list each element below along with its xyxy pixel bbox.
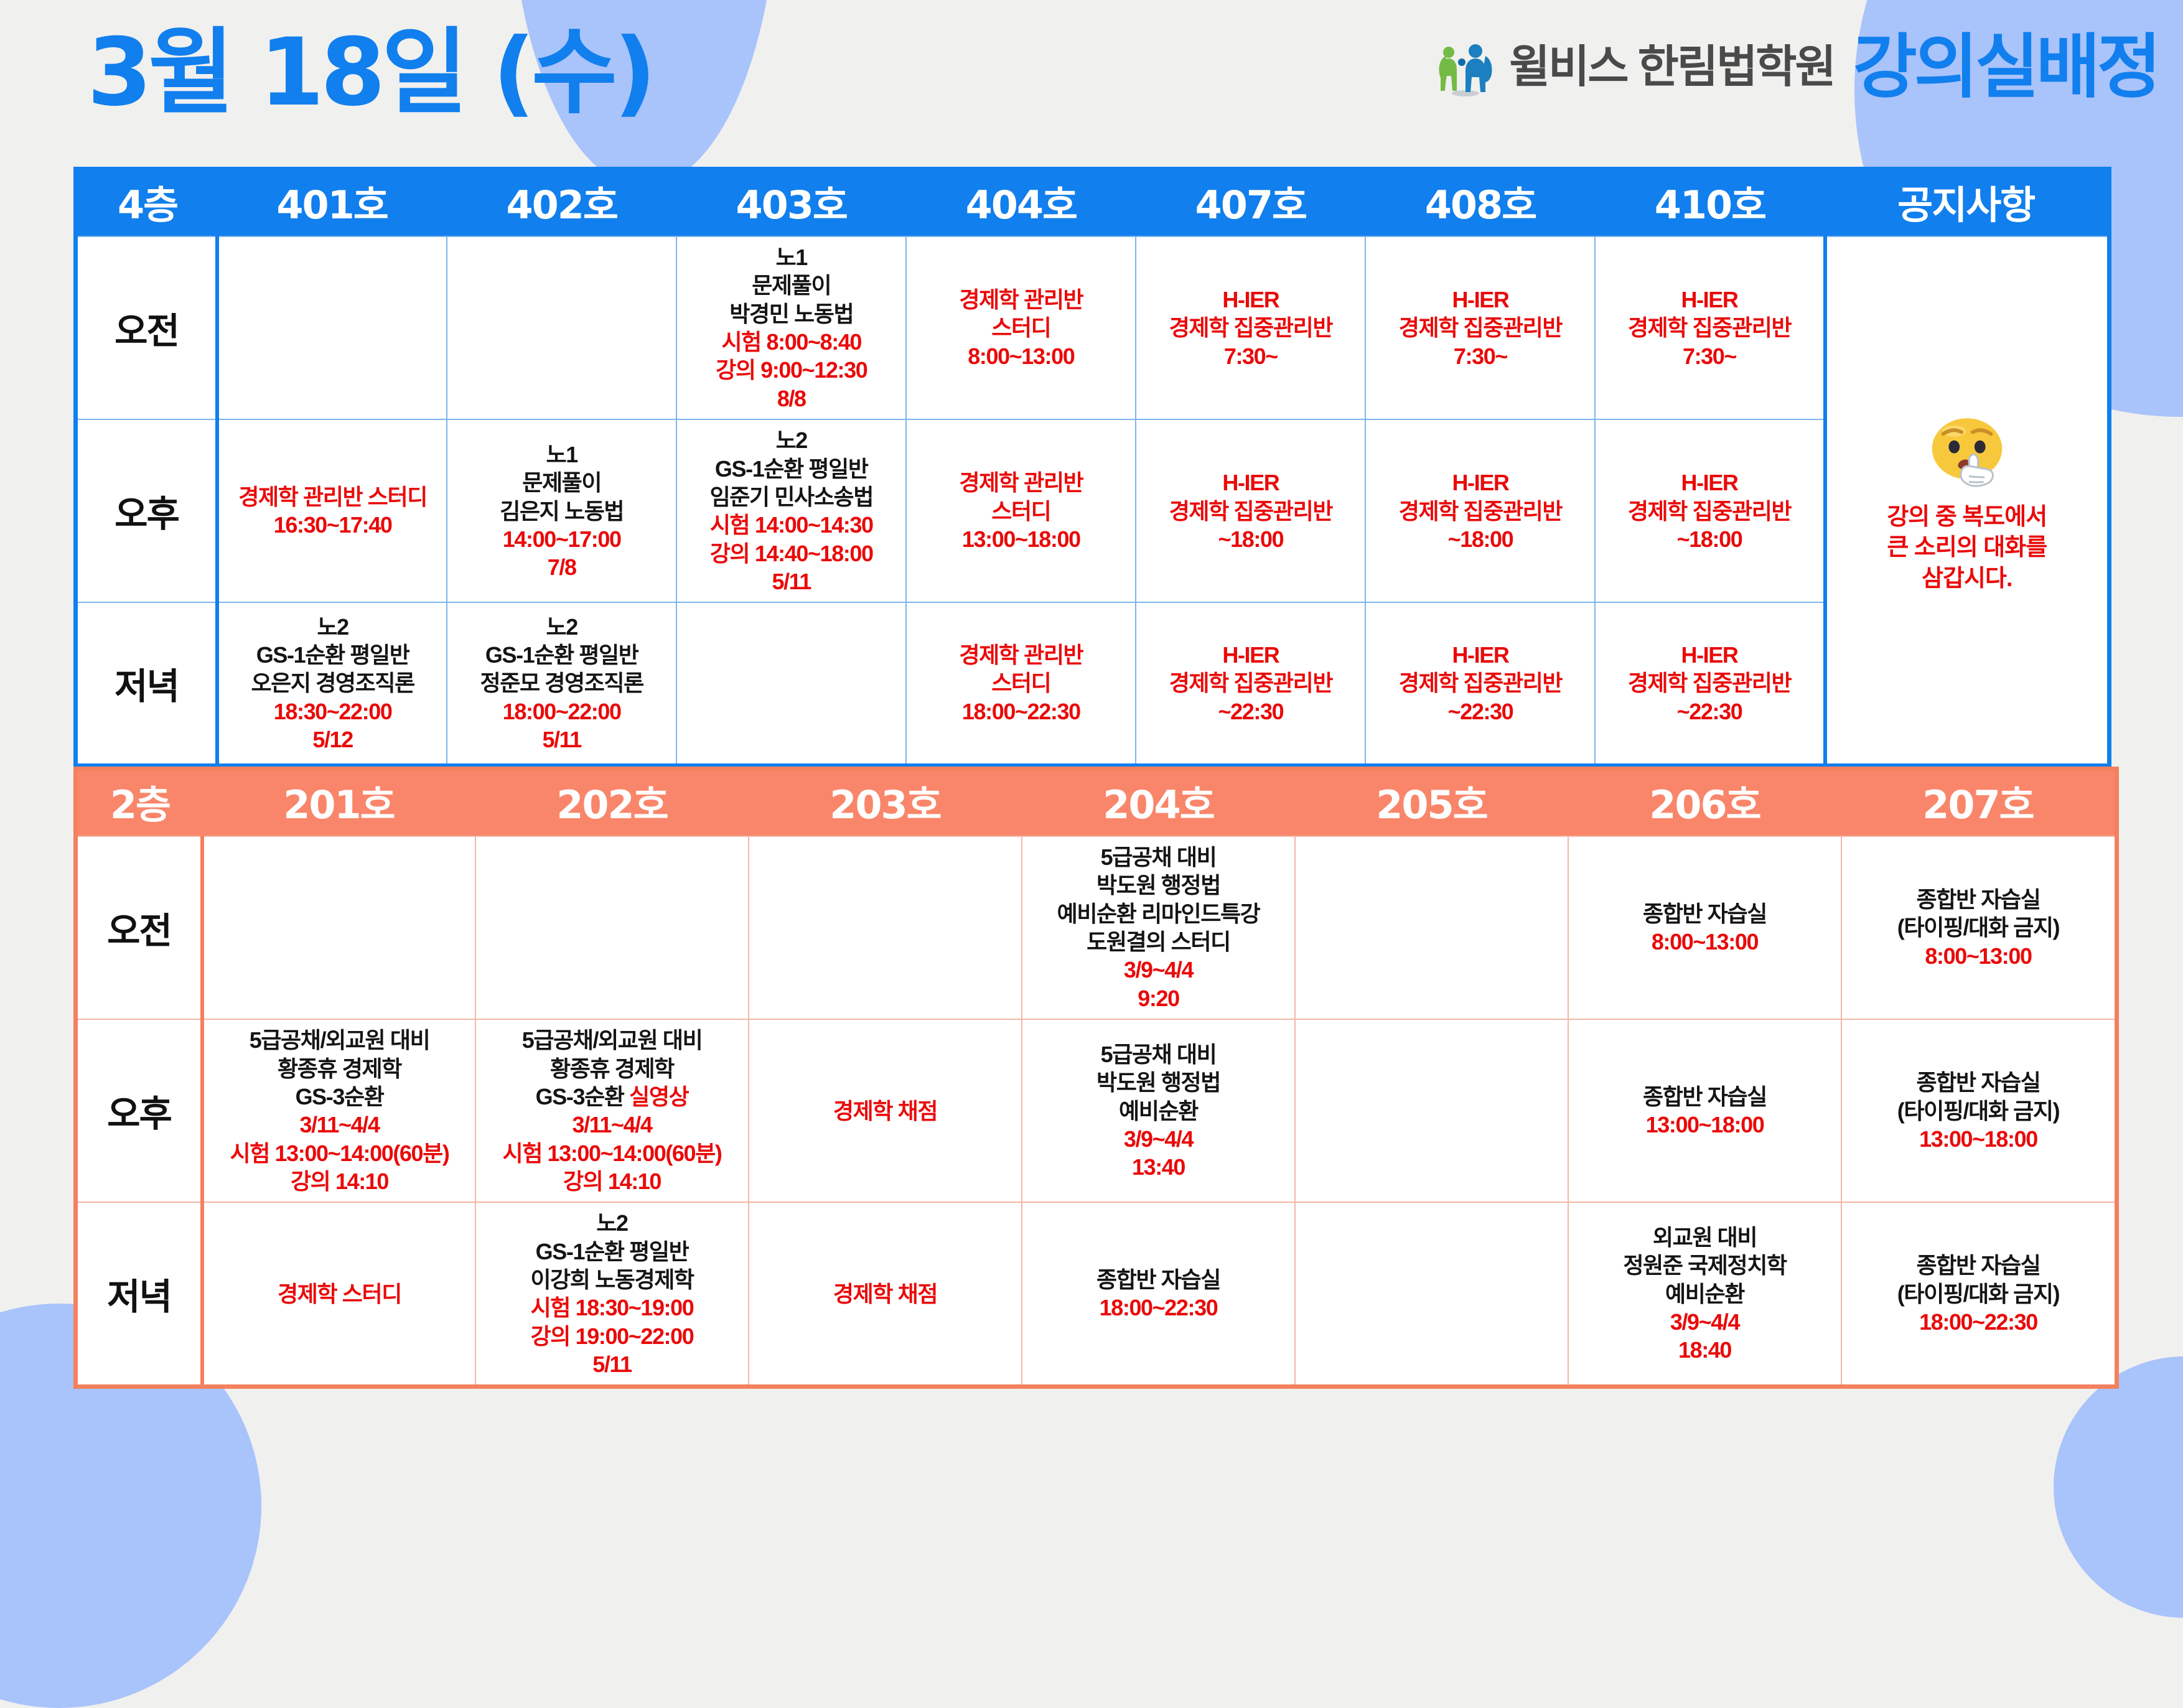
cell-line: ~22:30 [1448, 698, 1513, 726]
schedule-cell: 경제학 채점 [749, 1019, 1022, 1202]
schedule-table-floor4: 4층 401호 402호 403호 404호 407호 408호 410호 공지… [73, 167, 2111, 768]
notice-line: 큰 소리의 대화를 [1887, 533, 2047, 563]
header-notice: 공지사항 [1825, 169, 2110, 237]
header-room-205: 205호 [1295, 769, 1568, 837]
cell-content: H-IER경제학 집중관리반7:30~ [1370, 286, 1591, 370]
cell-line: 5급공채/외교원 대비 [250, 1026, 430, 1054]
schedule-cell [1295, 1202, 1568, 1387]
schedule-cell: 경제학 관리반스터디18:00~22:30 [906, 602, 1136, 765]
cell-line: 경제학 채점 [833, 1280, 937, 1308]
schedule-cell [217, 236, 447, 419]
cell-line: 시험 8:00~8:40 [721, 328, 861, 356]
cell-content: 종합반 자습실(타이핑/대화 금지)8:00~13:00 [1846, 885, 2111, 970]
brand-block: 윌비스 한림법학원 강의실배정 [1432, 32, 2158, 102]
cell-line: 8:00~13:00 [968, 342, 1074, 370]
cell-line: 7/8 [548, 553, 576, 581]
schedule-cell: 5급공채/외교원 대비황종휴 경제학GS-3순환3/11~4/4시험 13:00… [202, 1019, 475, 1202]
cell-line: GS-3순환 [296, 1083, 384, 1111]
schedule-cell: 경제학 관리반 스터디16:30~17:40 [217, 419, 447, 602]
cell-content: H-IER경제학 집중관리반~18:00 [1140, 469, 1361, 553]
header-room-204: 204호 [1022, 769, 1295, 837]
cell-line: 5/11 [772, 567, 811, 595]
schedule-cell [447, 236, 676, 419]
cell-line: 5급공채/외교원 대비 [522, 1026, 703, 1054]
header-page-label: 강의실배정 [1853, 32, 2158, 102]
cell-line: 7:30~ [1224, 342, 1278, 370]
schedule-cell: 외교원 대비정원준 국제정치학예비순환3/9~4/418:40 [1568, 1202, 1841, 1387]
header-room-207: 207호 [1841, 769, 2117, 837]
cell-content: H-IER경제학 집중관리반~22:30 [1370, 641, 1591, 726]
cell-line: H-IER [1222, 286, 1279, 314]
cell-line: (타이핑/대화 금지) [1897, 1097, 2059, 1125]
cell-line: 5/11 [592, 1350, 631, 1378]
cell-line: 황종휴 경제학 [550, 1055, 674, 1083]
cell-content: 종합반 자습실18:00~22:30 [1026, 1266, 1291, 1322]
cell-content: 경제학 관리반스터디13:00~18:00 [910, 469, 1131, 553]
cell-line: 박도원 행정법 [1096, 871, 1220, 899]
cell-line: 13:40 [1132, 1153, 1185, 1181]
table-header-row-floor2: 2층 201호 202호 203호 204호 205호 206호 207호 [76, 769, 2117, 837]
cell-content: H-IER경제학 집중관리반~18:00 [1370, 469, 1591, 553]
cell-line: 노2 [596, 1209, 627, 1237]
cell-line: 예비순환 [1119, 1097, 1198, 1125]
cell-line: 18:40 [1678, 1336, 1731, 1364]
cell-line: 18:00~22:30 [1100, 1294, 1218, 1322]
cell-content: 5급공채 대비박도원 행정법예비순환 리마인드특강도원결의 스터디3/9~4/4… [1026, 843, 1291, 1012]
cell-content: H-IER경제학 집중관리반~22:30 [1599, 641, 1819, 726]
cell-content: H-IER경제학 집중관리반7:30~ [1140, 286, 1361, 370]
cell-line: 7:30~ [1454, 342, 1507, 370]
schedule-cell: 경제학 스터디 [202, 1202, 475, 1387]
schedule-cell: 노1문제풀이박경민 노동법시험 8:00~8:40강의 9:00~12:308/… [676, 236, 906, 419]
cell-line: 3/11~4/4 [300, 1111, 380, 1139]
schedule-cell: 5급공채/외교원 대비황종휴 경제학GS-3순환 실영상3/11~4/4시험 1… [475, 1019, 749, 1202]
cell-content: 종합반 자습실8:00~13:00 [1573, 900, 1837, 956]
cell-line: 경제학 관리반 [959, 469, 1083, 497]
schedule-cell: H-IER경제학 집중관리반~22:30 [1136, 602, 1365, 765]
cell-line: 노2 [546, 613, 577, 641]
cell-line: 정원준 국제정치학 [1623, 1251, 1786, 1279]
schedule-cell: 경제학 관리반스터디13:00~18:00 [906, 419, 1136, 602]
cell-content: 종합반 자습실(타이핑/대화 금지)13:00~18:00 [1846, 1068, 2111, 1153]
header-floor2-label: 2층 [76, 769, 203, 837]
decorative-circle-bottom-right [2054, 1356, 2183, 1618]
schedule-cell [202, 836, 475, 1019]
cell-line: 시험 18:30~19:00 [531, 1294, 694, 1322]
cell-line: 예비순환 리마인드특강 [1057, 900, 1260, 928]
header-room-404: 404호 [906, 169, 1136, 237]
table-row: 저녁노2GS-1순환 평일반오은지 경영조직론18:30~22:005/12노2… [76, 602, 2110, 765]
notice-content: 강의 중 복도에서큰 소리의 대화를삼갑시다. [1831, 406, 2103, 594]
row-label-afternoon: 오후 [76, 1019, 203, 1202]
cell-content: 노1문제풀이김은지 노동법14:00~17:007/8 [451, 441, 672, 582]
cell-line: 시험 13:00~14:00(60분) [230, 1139, 449, 1167]
header-room-410: 410호 [1595, 169, 1825, 237]
cell-line: 5/12 [312, 726, 352, 754]
schedule-cell: 종합반 자습실18:00~22:30 [1022, 1202, 1295, 1387]
cell-line: GS-1순환 평일반 [715, 455, 868, 483]
header-room-401: 401호 [217, 169, 447, 237]
cell-content: 5급공채/외교원 대비황종휴 경제학GS-3순환3/11~4/4시험 13:00… [208, 1026, 471, 1195]
schedule-cell: 경제학 채점 [749, 1202, 1022, 1387]
header-room-403: 403호 [676, 169, 906, 237]
row-label-evening: 저녁 [76, 1202, 203, 1387]
schedule-cell: 종합반 자습실(타이핑/대화 금지)13:00~18:00 [1841, 1019, 2117, 1202]
cell-line: 경제학 채점 [833, 1097, 937, 1125]
cell-line: 5/11 [542, 726, 581, 754]
cell-content: 경제학 채점 [753, 1280, 1017, 1308]
row-label-morning: 오전 [76, 236, 218, 419]
schedule-cell: H-IER경제학 집중관리반7:30~ [1365, 236, 1595, 419]
cell-content: 노2GS-1순환 평일반이강희 노동경제학시험 18:30~19:00강의 19… [480, 1209, 744, 1378]
schedule-table-floor2: 2층 201호 202호 203호 204호 205호 206호 207호 오전… [73, 767, 2119, 1389]
brand-name: 윌비스 한림법학원 [1509, 45, 1835, 90]
cell-line: 강의 14:10 [291, 1167, 388, 1195]
schedule-cell: 노1문제풀이김은지 노동법14:00~17:007/8 [447, 419, 676, 602]
cell-line: GS-1순환 평일반 [485, 641, 638, 669]
cell-line: 8:00~13:00 [1925, 942, 2031, 970]
schedule-cell: 노2GS-1순환 평일반정준모 경영조직론18:00~22:005/11 [447, 602, 676, 765]
cell-line: 스터디 [991, 314, 1050, 342]
cell-content: 종합반 자습실(타이핑/대화 금지)18:00~22:30 [1846, 1251, 2111, 1336]
cell-line: H-IER [1452, 286, 1508, 314]
cell-line: 경제학 집중관리반 [1399, 497, 1562, 525]
table-row: 저녁경제학 스터디노2GS-1순환 평일반이강희 노동경제학시험 18:30~1… [76, 1202, 2117, 1387]
cell-content: 노1문제풀이박경민 노동법시험 8:00~8:40강의 9:00~12:308/… [681, 243, 902, 413]
cell-line: 3/11~4/4 [573, 1111, 652, 1139]
notice-line: 삼갑시다. [1922, 564, 2012, 594]
cell-line: (타이핑/대화 금지) [1897, 1280, 2059, 1308]
cell-line: GS-1순환 평일반 [256, 641, 409, 669]
schedule-cell: 종합반 자습실(타이핑/대화 금지)18:00~22:30 [1841, 1202, 2117, 1387]
schedule-cell: H-IER경제학 집중관리반~18:00 [1136, 419, 1365, 602]
cell-line: 노2 [776, 426, 807, 454]
cell-content: 경제학 채점 [753, 1097, 1017, 1125]
cell-line: H-IER [1452, 641, 1508, 669]
cell-line: 종합반 자습실 [1917, 885, 2040, 913]
cell-content: H-IER경제학 집중관리반7:30~ [1599, 286, 1819, 370]
cell-line: 8:00~13:00 [1652, 928, 1758, 956]
row-label-afternoon: 오후 [76, 419, 218, 602]
cell-line: 경제학 스터디 [278, 1280, 401, 1308]
schedule-cell: 종합반 자습실13:00~18:00 [1568, 1019, 1841, 1202]
notice-cell: 강의 중 복도에서큰 소리의 대화를삼갑시다. [1825, 236, 2110, 765]
cell-line: 임준기 민사소송법 [710, 483, 873, 511]
cell-line: H-IER [1681, 641, 1738, 669]
cell-line: 종합반 자습실 [1643, 900, 1767, 928]
schedule-cell: 노2GS-1순환 평일반오은지 경영조직론18:30~22:005/12 [217, 602, 447, 765]
schedule-cell [1295, 1019, 1568, 1202]
schedule-cell: H-IER경제학 집중관리반~18:00 [1595, 419, 1825, 602]
cell-line: 노1 [776, 243, 807, 271]
cell-line: 18:00~22:00 [503, 698, 621, 726]
cell-line: H-IER [1222, 469, 1279, 497]
row-label-morning: 오전 [76, 836, 203, 1019]
cell-line: 3/9~4/4 [1670, 1308, 1739, 1336]
schedule-cell [749, 836, 1022, 1019]
cell-line: 경제학 집중관리반 [1628, 314, 1791, 342]
cell-line: GS-1순환 평일반 [536, 1238, 689, 1266]
cell-content: 경제학 관리반스터디8:00~13:00 [910, 286, 1131, 370]
cell-line: 경제학 관리반 [959, 286, 1083, 314]
cell-line: 문제풀이 [522, 469, 601, 497]
cell-line: 종합반 자습실 [1917, 1251, 2040, 1279]
cell-line: 경제학 집중관리반 [1169, 314, 1332, 342]
cell-content: 종합반 자습실13:00~18:00 [1573, 1083, 1837, 1139]
schedule-cell: 종합반 자습실8:00~13:00 [1568, 836, 1841, 1019]
cell-line: 경제학 집중관리반 [1169, 497, 1332, 525]
cell-line: 스터디 [991, 669, 1050, 697]
cell-content: 경제학 관리반 스터디16:30~17:40 [223, 483, 442, 539]
cell-line: 경제학 집중관리반 [1628, 669, 1791, 697]
cell-line: 박경민 노동법 [729, 300, 853, 328]
cell-line: 오은지 경영조직론 [251, 669, 414, 697]
table-row: 오전노1문제풀이박경민 노동법시험 8:00~8:40강의 9:00~12:30… [76, 236, 2110, 419]
schedule-cell: 노2GS-1순환 평일반이강희 노동경제학시험 18:30~19:00강의 19… [475, 1202, 749, 1387]
cell-line: 종합반 자습실 [1643, 1083, 1767, 1111]
table-row: 오후경제학 관리반 스터디16:30~17:40노1문제풀이김은지 노동법14:… [76, 419, 2110, 602]
shushing-face-emoji [1921, 406, 2013, 498]
cell-content: 5급공채 대비박도원 행정법예비순환3/9~4/413:40 [1026, 1040, 1291, 1182]
cell-line: 경제학 집중관리반 [1399, 669, 1562, 697]
cell-line: H-IER [1222, 641, 1279, 669]
cell-line: 13:00~18:00 [1646, 1111, 1764, 1139]
schedule-cell: 노2GS-1순환 평일반임준기 민사소송법시험 14:00~14:30강의 14… [676, 419, 906, 602]
schedule-cell: H-IER경제학 집중관리반~22:30 [1595, 602, 1825, 765]
cell-content: 외교원 대비정원준 국제정치학예비순환3/9~4/418:40 [1573, 1223, 1837, 1365]
schedule-cell: 종합반 자습실(타이핑/대화 금지)8:00~13:00 [1841, 836, 2117, 1019]
wilbis-people-logo-icon [1432, 37, 1499, 97]
cell-line: 이강희 노동경제학 [530, 1266, 693, 1294]
cell-line: 시험 14:00~14:30 [710, 511, 873, 539]
cell-line: 경제학 집중관리반 [1399, 314, 1562, 342]
cell-content: 노2GS-1순환 평일반오은지 경영조직론18:30~22:005/12 [223, 613, 442, 754]
cell-line: ~22:30 [1218, 698, 1284, 726]
table-row: 오전5급공채 대비박도원 행정법예비순환 리마인드특강도원결의 스터디3/9~4… [76, 836, 2117, 1019]
cell-line: ~18:00 [1448, 525, 1513, 553]
cell-content: 5급공채/외교원 대비황종휴 경제학GS-3순환 실영상3/11~4/4시험 1… [480, 1026, 744, 1195]
schedule-cell: H-IER경제학 집중관리반~22:30 [1365, 602, 1595, 765]
cell-line: 경제학 집중관리반 [1169, 669, 1332, 697]
page-header: 3월 18일 (수) 윌비스 한림법학원 강의실배정 [0, 0, 2183, 163]
header-room-402: 402호 [447, 169, 676, 237]
page-title: 3월 18일 (수) [87, 26, 653, 119]
header-floor4-label: 4층 [76, 169, 218, 237]
cell-line: ~22:30 [1677, 698, 1742, 726]
notice-line: 강의 중 복도에서 [1887, 502, 2047, 533]
cell-line: 경제학 관리반 [959, 641, 1083, 669]
cell-line: 경제학 관리반 스터디 [238, 483, 427, 511]
cell-line: 노1 [546, 441, 577, 469]
cell-line: 18:30~22:00 [274, 698, 392, 726]
cell-line: 18:00~22:30 [1919, 1308, 2037, 1336]
cell-line: 종합반 자습실 [1917, 1068, 2040, 1096]
cell-line: 정준모 경영조직론 [480, 669, 643, 697]
cell-line: 13:00~18:00 [962, 525, 1080, 553]
cell-line: GS-3순환 실영상 [536, 1083, 689, 1111]
cell-line: 도원결의 스터디 [1087, 928, 1230, 956]
cell-line: ~18:00 [1218, 525, 1284, 553]
header-room-203: 203호 [749, 769, 1022, 837]
cell-line: 7:30~ [1683, 342, 1736, 370]
cell-line: 9:20 [1138, 984, 1179, 1012]
cell-line: 외교원 대비 [1653, 1223, 1757, 1251]
cell-content: 경제학 관리반스터디18:00~22:30 [910, 641, 1131, 726]
cell-line: 3/9~4/4 [1124, 1125, 1193, 1153]
cell-line: 18:00~22:30 [962, 698, 1080, 726]
cell-line: (타이핑/대화 금지) [1897, 913, 2059, 941]
cell-line: 종합반 자습실 [1096, 1266, 1220, 1294]
cell-line: 16:30~17:40 [274, 511, 392, 539]
cell-content: H-IER경제학 집중관리반~22:30 [1140, 641, 1361, 726]
cell-line: H-IER [1681, 469, 1738, 497]
cell-line: 박도원 행정법 [1096, 1068, 1220, 1096]
header-room-206: 206호 [1568, 769, 1841, 837]
table-header-row-floor4: 4층 401호 402호 403호 404호 407호 408호 410호 공지… [76, 169, 2110, 237]
schedule-cell [676, 602, 906, 765]
cell-line: 예비순환 [1665, 1280, 1744, 1308]
schedule-cell [475, 836, 749, 1019]
header-room-201: 201호 [202, 769, 475, 837]
schedule-cell [1295, 836, 1568, 1019]
cell-content: H-IER경제학 집중관리반~18:00 [1599, 469, 1819, 553]
cell-line: 8/8 [777, 385, 806, 413]
schedule-cell: H-IER경제학 집중관리반7:30~ [1595, 236, 1825, 419]
cell-line: 시험 13:00~14:00(60분) [503, 1139, 722, 1167]
cell-content: 노2GS-1순환 평일반임준기 민사소송법시험 14:00~14:30강의 14… [681, 426, 902, 595]
schedule-cell: 5급공채 대비박도원 행정법예비순환 리마인드특강도원결의 스터디3/9~4/4… [1022, 836, 1295, 1019]
cell-line: 문제풀이 [752, 271, 831, 299]
cell-content: 경제학 스터디 [208, 1280, 471, 1308]
header-room-408: 408호 [1365, 169, 1595, 237]
schedule-cell: H-IER경제학 집중관리반~18:00 [1365, 419, 1595, 602]
schedule-cell: 5급공채 대비박도원 행정법예비순환3/9~4/413:40 [1022, 1019, 1295, 1202]
cell-line: 5급공채 대비 [1101, 1040, 1217, 1068]
cell-line: 황종휴 경제학 [278, 1055, 401, 1083]
cell-line: 3/9~4/4 [1124, 956, 1193, 984]
table-row: 오후5급공채/외교원 대비황종휴 경제학GS-3순환3/11~4/4시험 13:… [76, 1019, 2117, 1202]
cell-line: 경제학 집중관리반 [1628, 497, 1791, 525]
cell-line: 강의 14:40~18:00 [710, 539, 873, 567]
schedule-cell: 경제학 관리반스터디8:00~13:00 [906, 236, 1136, 419]
cell-line: H-IER [1681, 286, 1738, 314]
header-room-407: 407호 [1136, 169, 1365, 237]
cell-content: 노2GS-1순환 평일반정준모 경영조직론18:00~22:005/11 [451, 613, 672, 754]
cell-line: 노2 [317, 613, 348, 641]
header-room-202: 202호 [475, 769, 749, 837]
cell-line: 5급공채 대비 [1101, 843, 1217, 871]
cell-line: 강의 9:00~12:30 [716, 356, 867, 384]
cell-line: ~18:00 [1677, 525, 1742, 553]
cell-line: 스터디 [991, 497, 1050, 525]
cell-line: H-IER [1452, 469, 1508, 497]
row-label-evening: 저녁 [76, 602, 218, 765]
cell-line: 강의 14:10 [563, 1167, 661, 1195]
cell-line: 13:00~18:00 [1919, 1125, 2037, 1153]
schedule-cell: H-IER경제학 집중관리반7:30~ [1136, 236, 1365, 419]
cell-line: 14:00~17:00 [503, 525, 621, 553]
cell-line: 강의 19:00~22:00 [531, 1322, 694, 1350]
cell-line: 김은지 노동법 [500, 497, 624, 525]
